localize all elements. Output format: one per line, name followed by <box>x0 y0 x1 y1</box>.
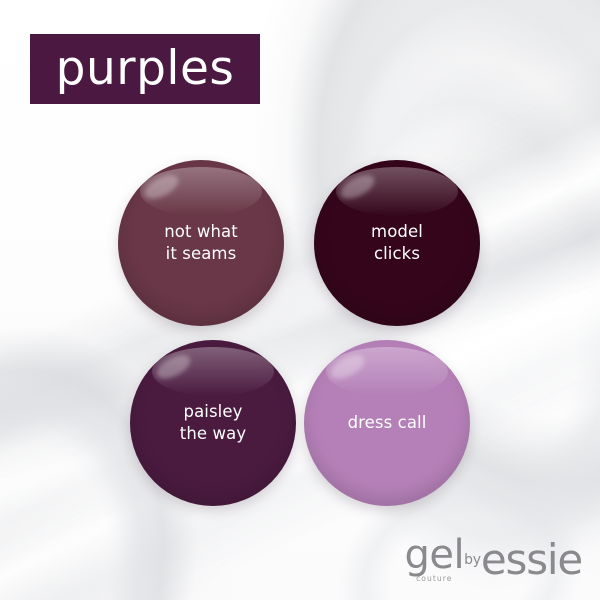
shade-swatch-dress-call[interactable]: dress call <box>304 340 470 506</box>
title-plate: purples <box>30 34 260 104</box>
shade-label: model clicks <box>361 221 433 265</box>
shade-label: not what it seams <box>154 221 248 265</box>
brand-logo: gel couture by essie <box>404 537 582 582</box>
logo-gel-text: gel <box>404 537 464 574</box>
logo-gel-couture-group: gel couture <box>404 537 464 582</box>
logo-couture-text: couture <box>416 575 452 583</box>
page-title: purples <box>56 45 235 92</box>
shade-label: dress call <box>338 412 437 434</box>
shade-collection-poster: purples not what it seams model clicks p… <box>0 0 600 600</box>
shade-label: paisley the way <box>170 401 256 445</box>
logo-by-text: by <box>464 552 481 582</box>
shade-swatch-paisley-the-way[interactable]: paisley the way <box>130 340 296 506</box>
shade-swatch-model-clicks[interactable]: model clicks <box>314 160 480 326</box>
logo-essie-text: essie <box>481 541 582 582</box>
shade-swatch-not-what-it-seams[interactable]: not what it seams <box>118 160 284 326</box>
